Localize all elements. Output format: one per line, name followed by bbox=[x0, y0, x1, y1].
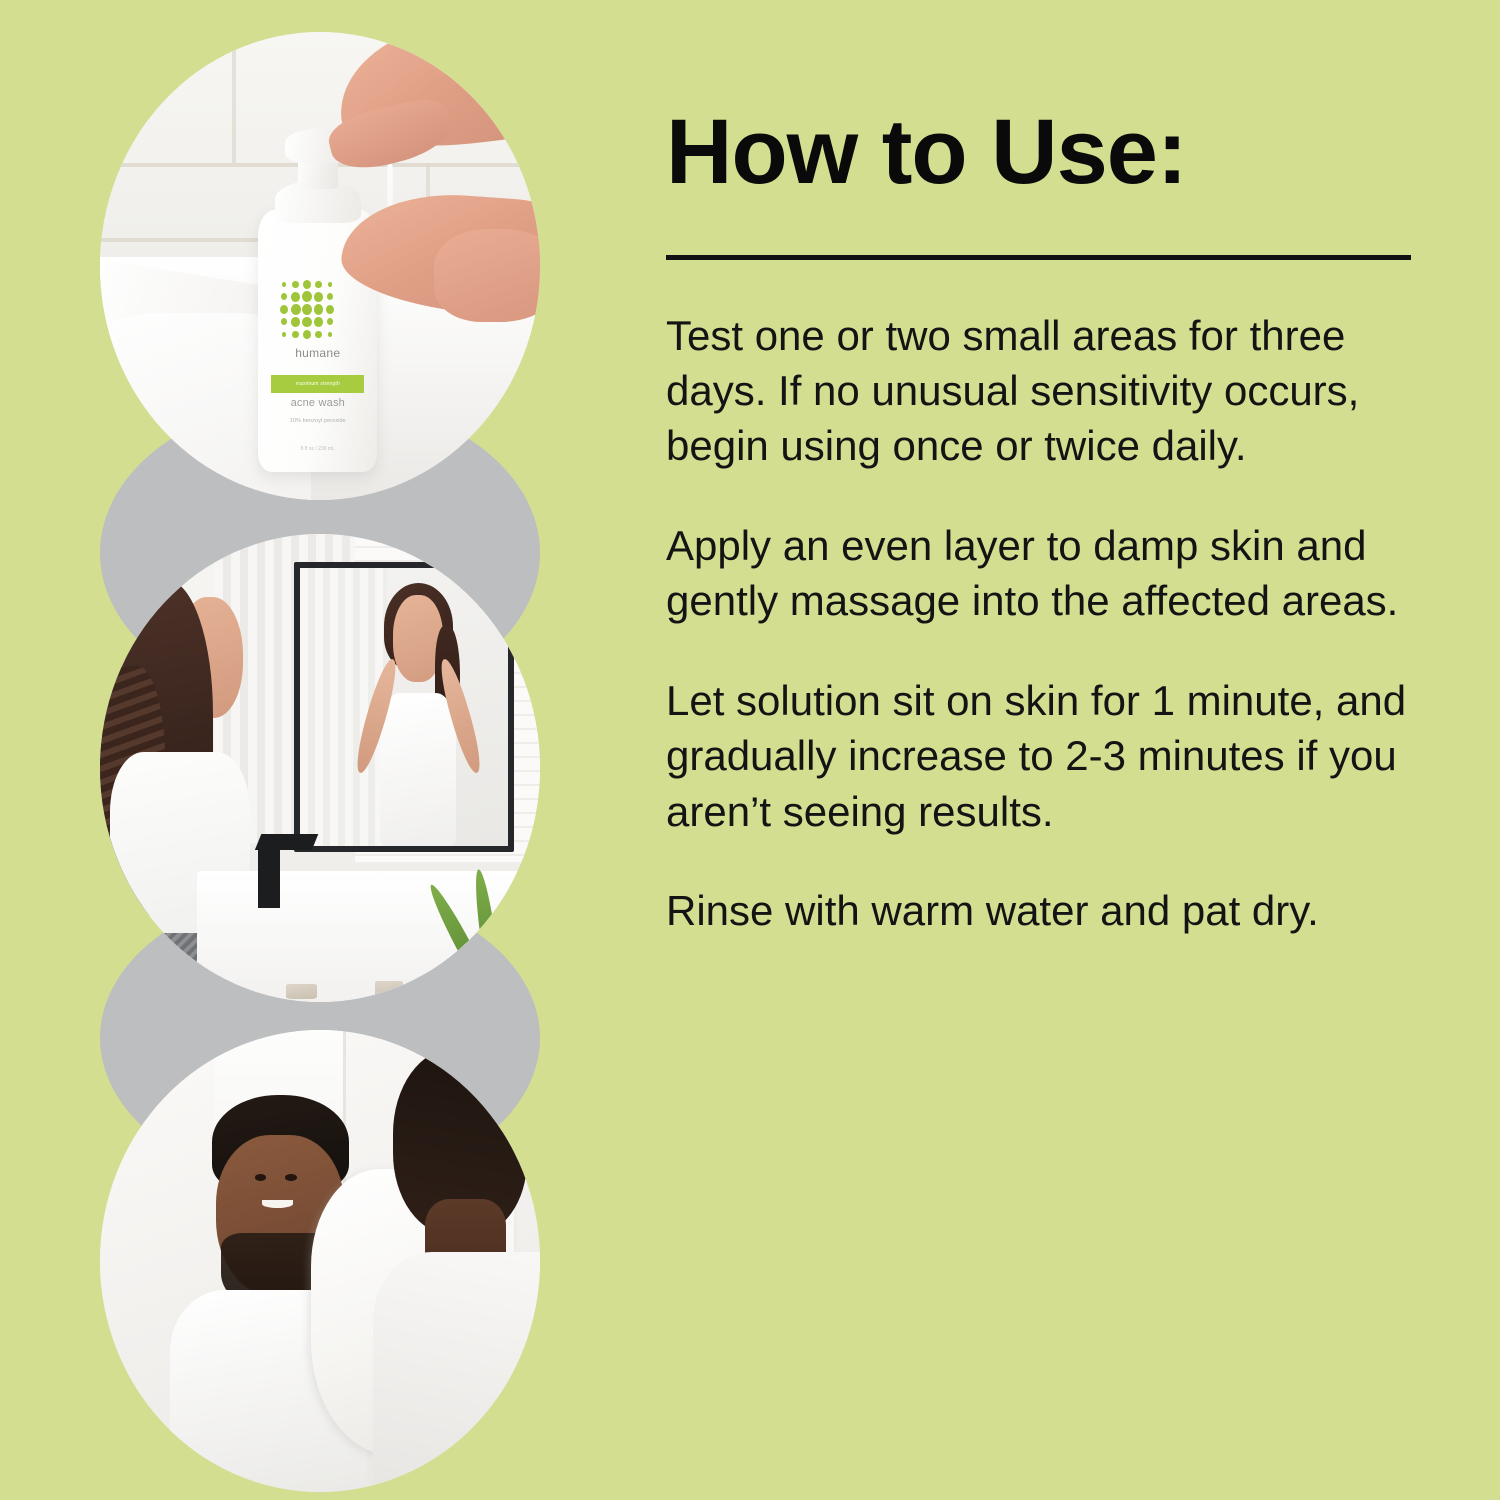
tile-grout-line bbox=[232, 32, 236, 163]
step-let-sit: Let solution sit on skin for 1 minute, a… bbox=[666, 673, 1414, 839]
bottle-active-ingredient: 10% benzoyl peroxide bbox=[268, 418, 368, 424]
photo-dispense-product: humane maximum strength acne wash 10% be… bbox=[100, 32, 540, 500]
steps-list: Test one or two small areas for three da… bbox=[666, 308, 1426, 939]
photo-apply-scene bbox=[100, 534, 540, 1002]
woman-reflection bbox=[370, 590, 466, 846]
ceramic-jar bbox=[375, 981, 402, 999]
right-eye bbox=[285, 1174, 297, 1181]
photo-apply-to-face bbox=[100, 534, 540, 1002]
humane-dot-grid-logo bbox=[279, 278, 336, 341]
bottle-brand-name: humane bbox=[273, 346, 363, 360]
infographic-page: humane maximum strength acne wash 10% be… bbox=[0, 0, 1500, 1500]
reflected-shirt bbox=[373, 1252, 540, 1492]
bottle-strength-badge: maximum strength bbox=[271, 375, 364, 393]
step-rinse: Rinse with warm water and pat dry. bbox=[666, 883, 1414, 938]
photo-pat-dry bbox=[100, 1030, 540, 1492]
page-title: How to Use: bbox=[666, 104, 1426, 201]
white-tank-top bbox=[380, 693, 457, 847]
aloe-leaf bbox=[491, 871, 540, 1002]
aloe-plant bbox=[452, 852, 540, 1002]
step-apply: Apply an even layer to damp skin and gen… bbox=[666, 518, 1414, 629]
open-palm bbox=[434, 229, 540, 323]
left-eye bbox=[255, 1174, 267, 1181]
man-mirror-reflection bbox=[373, 1048, 540, 1492]
photo-dispense-scene: humane maximum strength acne wash 10% be… bbox=[100, 32, 540, 500]
bottle-product-name: acne wash bbox=[268, 397, 368, 409]
title-divider bbox=[666, 255, 1411, 260]
photo-pat-dry-scene bbox=[100, 1030, 540, 1492]
photo-column: humane maximum strength acne wash 10% be… bbox=[0, 0, 640, 1500]
faucet-base bbox=[258, 843, 280, 909]
step-test-patch: Test one or two small areas for three da… bbox=[666, 308, 1414, 474]
bottle-volume: 8 fl oz / 236 mL bbox=[280, 446, 356, 452]
bathroom-mirror bbox=[294, 562, 514, 852]
ceramic-cup bbox=[286, 984, 317, 1000]
instructions-column: How to Use: Test one or two small areas … bbox=[666, 0, 1426, 1500]
smile bbox=[262, 1200, 293, 1208]
